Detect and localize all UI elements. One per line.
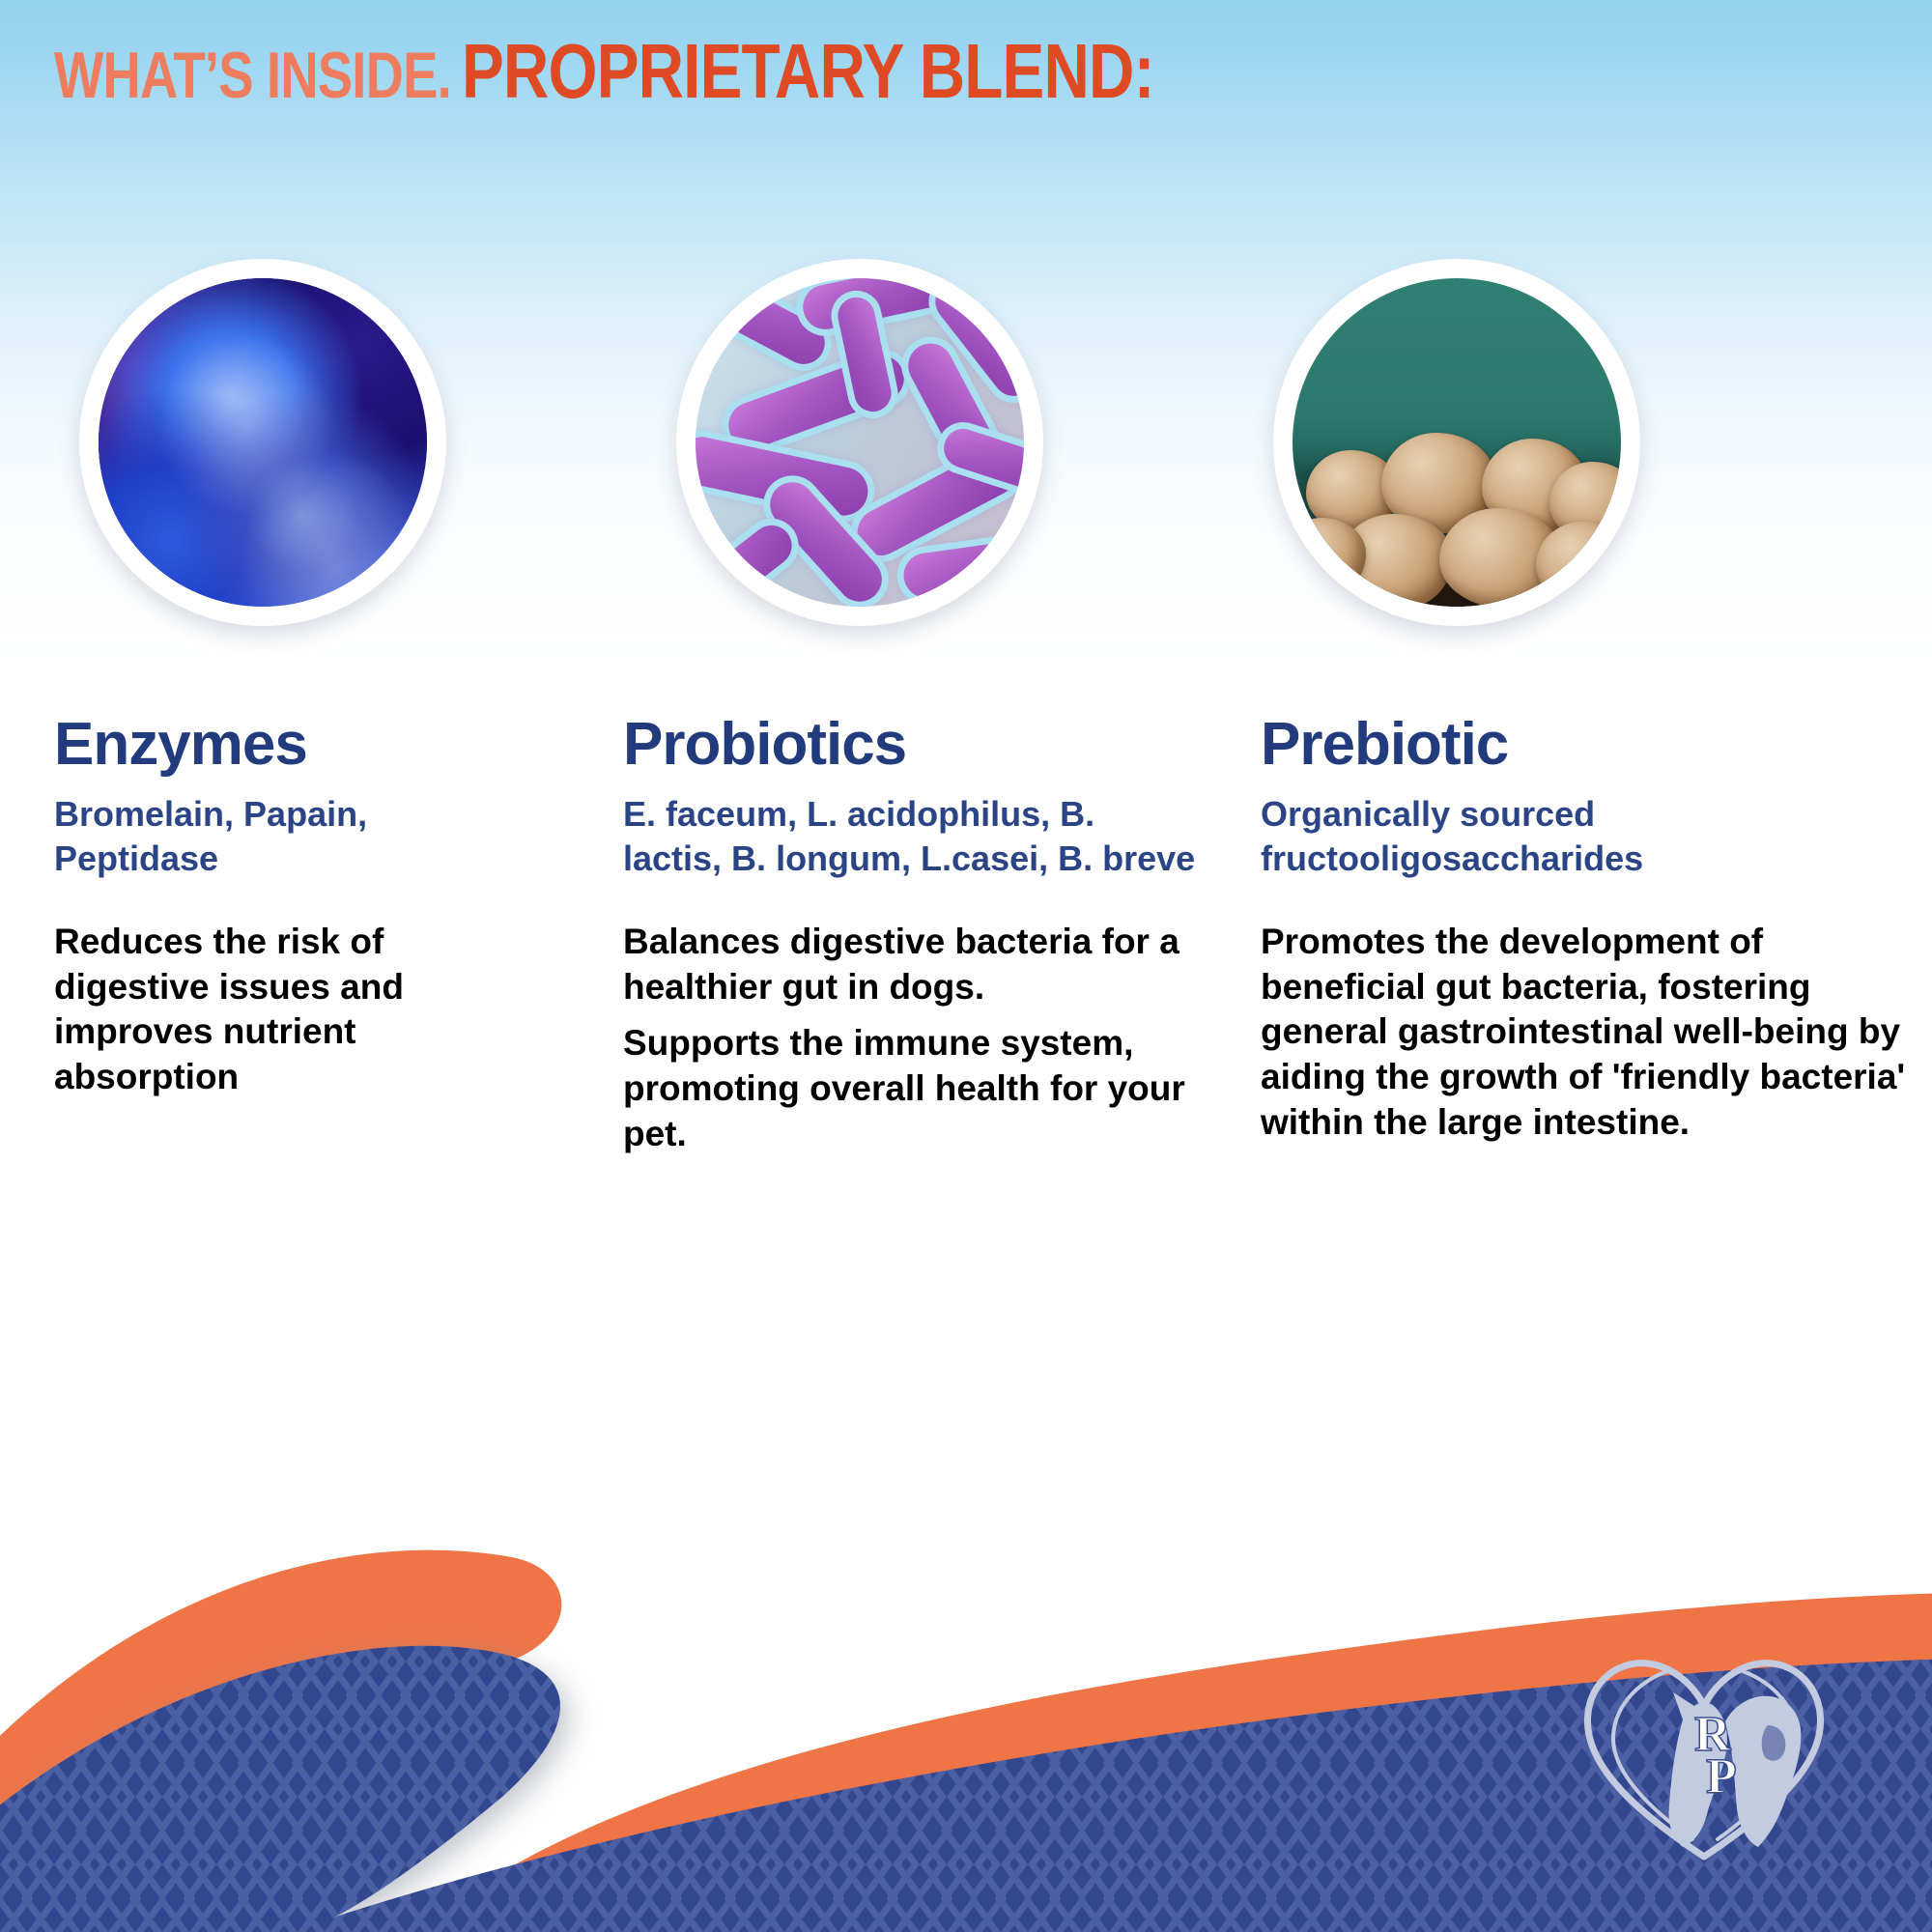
column-paragraph: Reduces the risk of digestive issues and…	[54, 920, 537, 1099]
column-heading: Prebiotic	[1261, 715, 1932, 775]
logo-letter-p: P	[1706, 1749, 1737, 1804]
column-paragraph: Balances digestive bacteria for a health…	[623, 920, 1203, 1009]
column-heading: Probiotics	[623, 715, 1203, 775]
infographic-canvas: WHAT’S INSIDE. PROPRIETARY BLEND:	[0, 0, 1932, 1932]
column-paragraph: Promotes the development of beneficial g…	[1261, 920, 1932, 1145]
bacteria-texture	[696, 278, 1024, 607]
column-enzymes: Enzymes Bromelain, Papain, Peptidase Red…	[54, 715, 537, 1100]
prebiotic-image-circle	[1273, 259, 1640, 626]
prebiotic-sunchoke-photo	[1293, 278, 1621, 607]
enzymes-image-circle	[79, 259, 446, 626]
sunchoke-texture	[1293, 278, 1621, 607]
rp-pet-heart-logo: R P	[1559, 1633, 1849, 1874]
page-header: WHAT’S INSIDE. PROPRIETARY BLEND:	[54, 27, 1306, 116]
column-ingredients: Bromelain, Papain, Peptidase	[54, 792, 537, 881]
column-prebiotic: Prebiotic Organically sourced fructoolig…	[1261, 715, 1932, 1145]
probiotics-image-circle	[676, 259, 1043, 626]
enzymes-blueberries-photo	[99, 278, 427, 607]
header-title-light: WHAT’S INSIDE.	[54, 38, 451, 113]
column-probiotics: Probiotics E. faceum, L. acidophilus, B.…	[623, 715, 1203, 1156]
circle-frame	[79, 259, 446, 626]
circle-frame	[1273, 259, 1640, 626]
column-ingredients: Organically sourced fructooligosaccharid…	[1261, 792, 1932, 881]
header-title-bold: PROPRIETARY BLEND:	[462, 27, 1154, 116]
column-ingredients: E. faceum, L. acidophilus, B. lactis, B.…	[623, 792, 1203, 881]
blueberry-texture	[99, 278, 427, 607]
column-heading: Enzymes	[54, 715, 537, 775]
probiotics-bacteria-photo	[696, 278, 1024, 607]
column-paragraph: Supports the immune system, promoting ov…	[623, 1021, 1203, 1156]
circle-frame	[676, 259, 1043, 626]
